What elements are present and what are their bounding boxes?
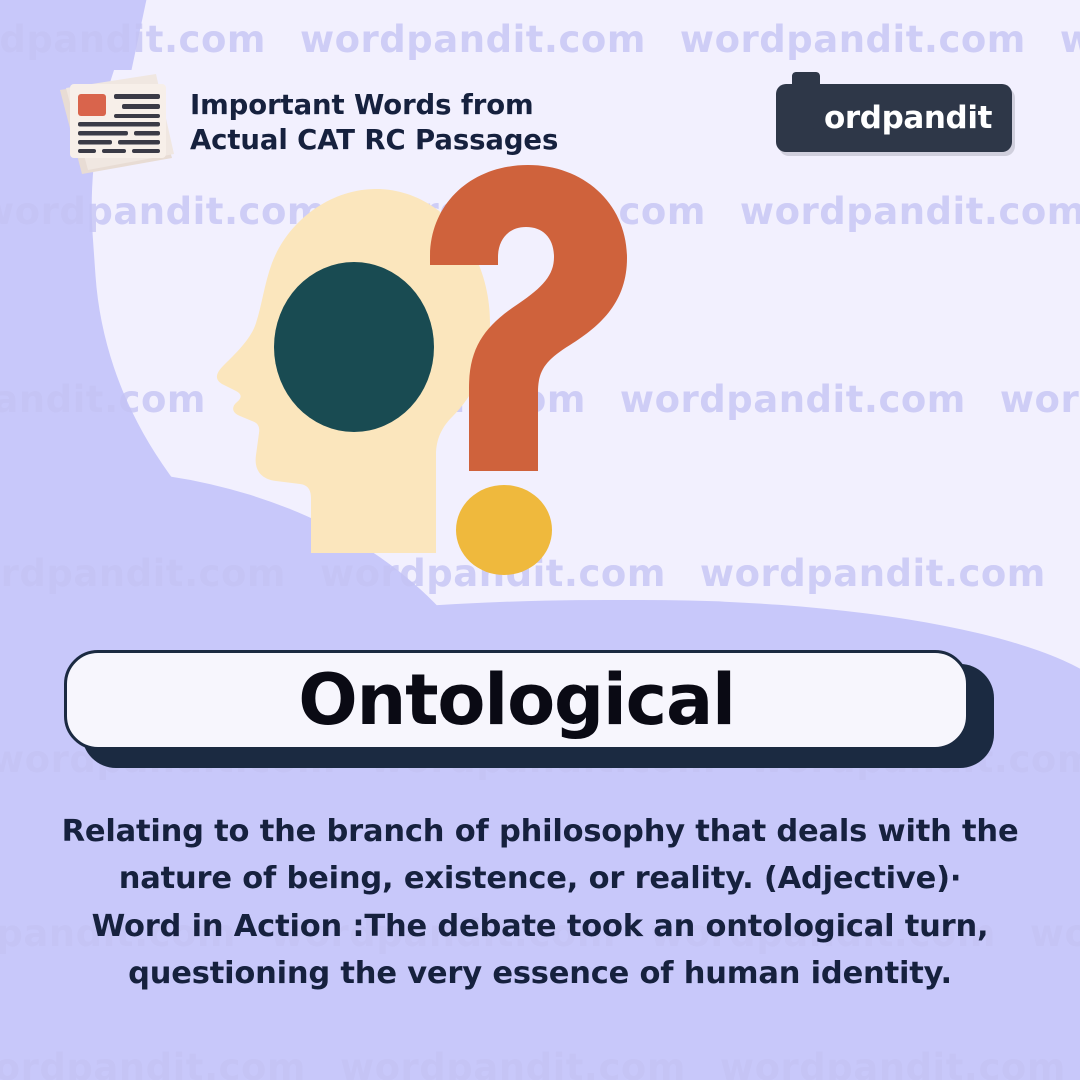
bookmark-icon bbox=[788, 72, 824, 138]
word-card: Ontological bbox=[64, 650, 994, 760]
wordpandit-logo[interactable]: ordpandit bbox=[776, 84, 1012, 152]
word-card-body: Ontological bbox=[64, 650, 969, 750]
page-title: Important Words from Actual CAT RC Passa… bbox=[190, 88, 558, 158]
question-mark-dot-icon bbox=[456, 485, 552, 575]
poster-canvas: wordpandit.comwordpandit.comwordpandit.c… bbox=[0, 0, 1080, 1080]
brain-circle-icon bbox=[274, 262, 434, 432]
definition-line-1: Relating to the branch of philosophy tha… bbox=[40, 808, 1040, 855]
logo-text: ordpandit bbox=[824, 100, 992, 136]
definition-line-2: nature of being, existence, or reality. … bbox=[40, 855, 1040, 902]
definition-block: Relating to the branch of philosophy tha… bbox=[40, 808, 1040, 997]
page-title-line-1: Important Words from bbox=[190, 88, 558, 123]
definition-line-3: Word in Action :The debate took an ontol… bbox=[40, 903, 1040, 950]
newspaper-icon bbox=[52, 70, 180, 178]
vocabulary-word: Ontological bbox=[298, 665, 735, 735]
page-title-line-2: Actual CAT RC Passages bbox=[190, 123, 558, 158]
definition-line-4: questioning the very essence of human id… bbox=[40, 950, 1040, 997]
illustration bbox=[180, 155, 700, 595]
